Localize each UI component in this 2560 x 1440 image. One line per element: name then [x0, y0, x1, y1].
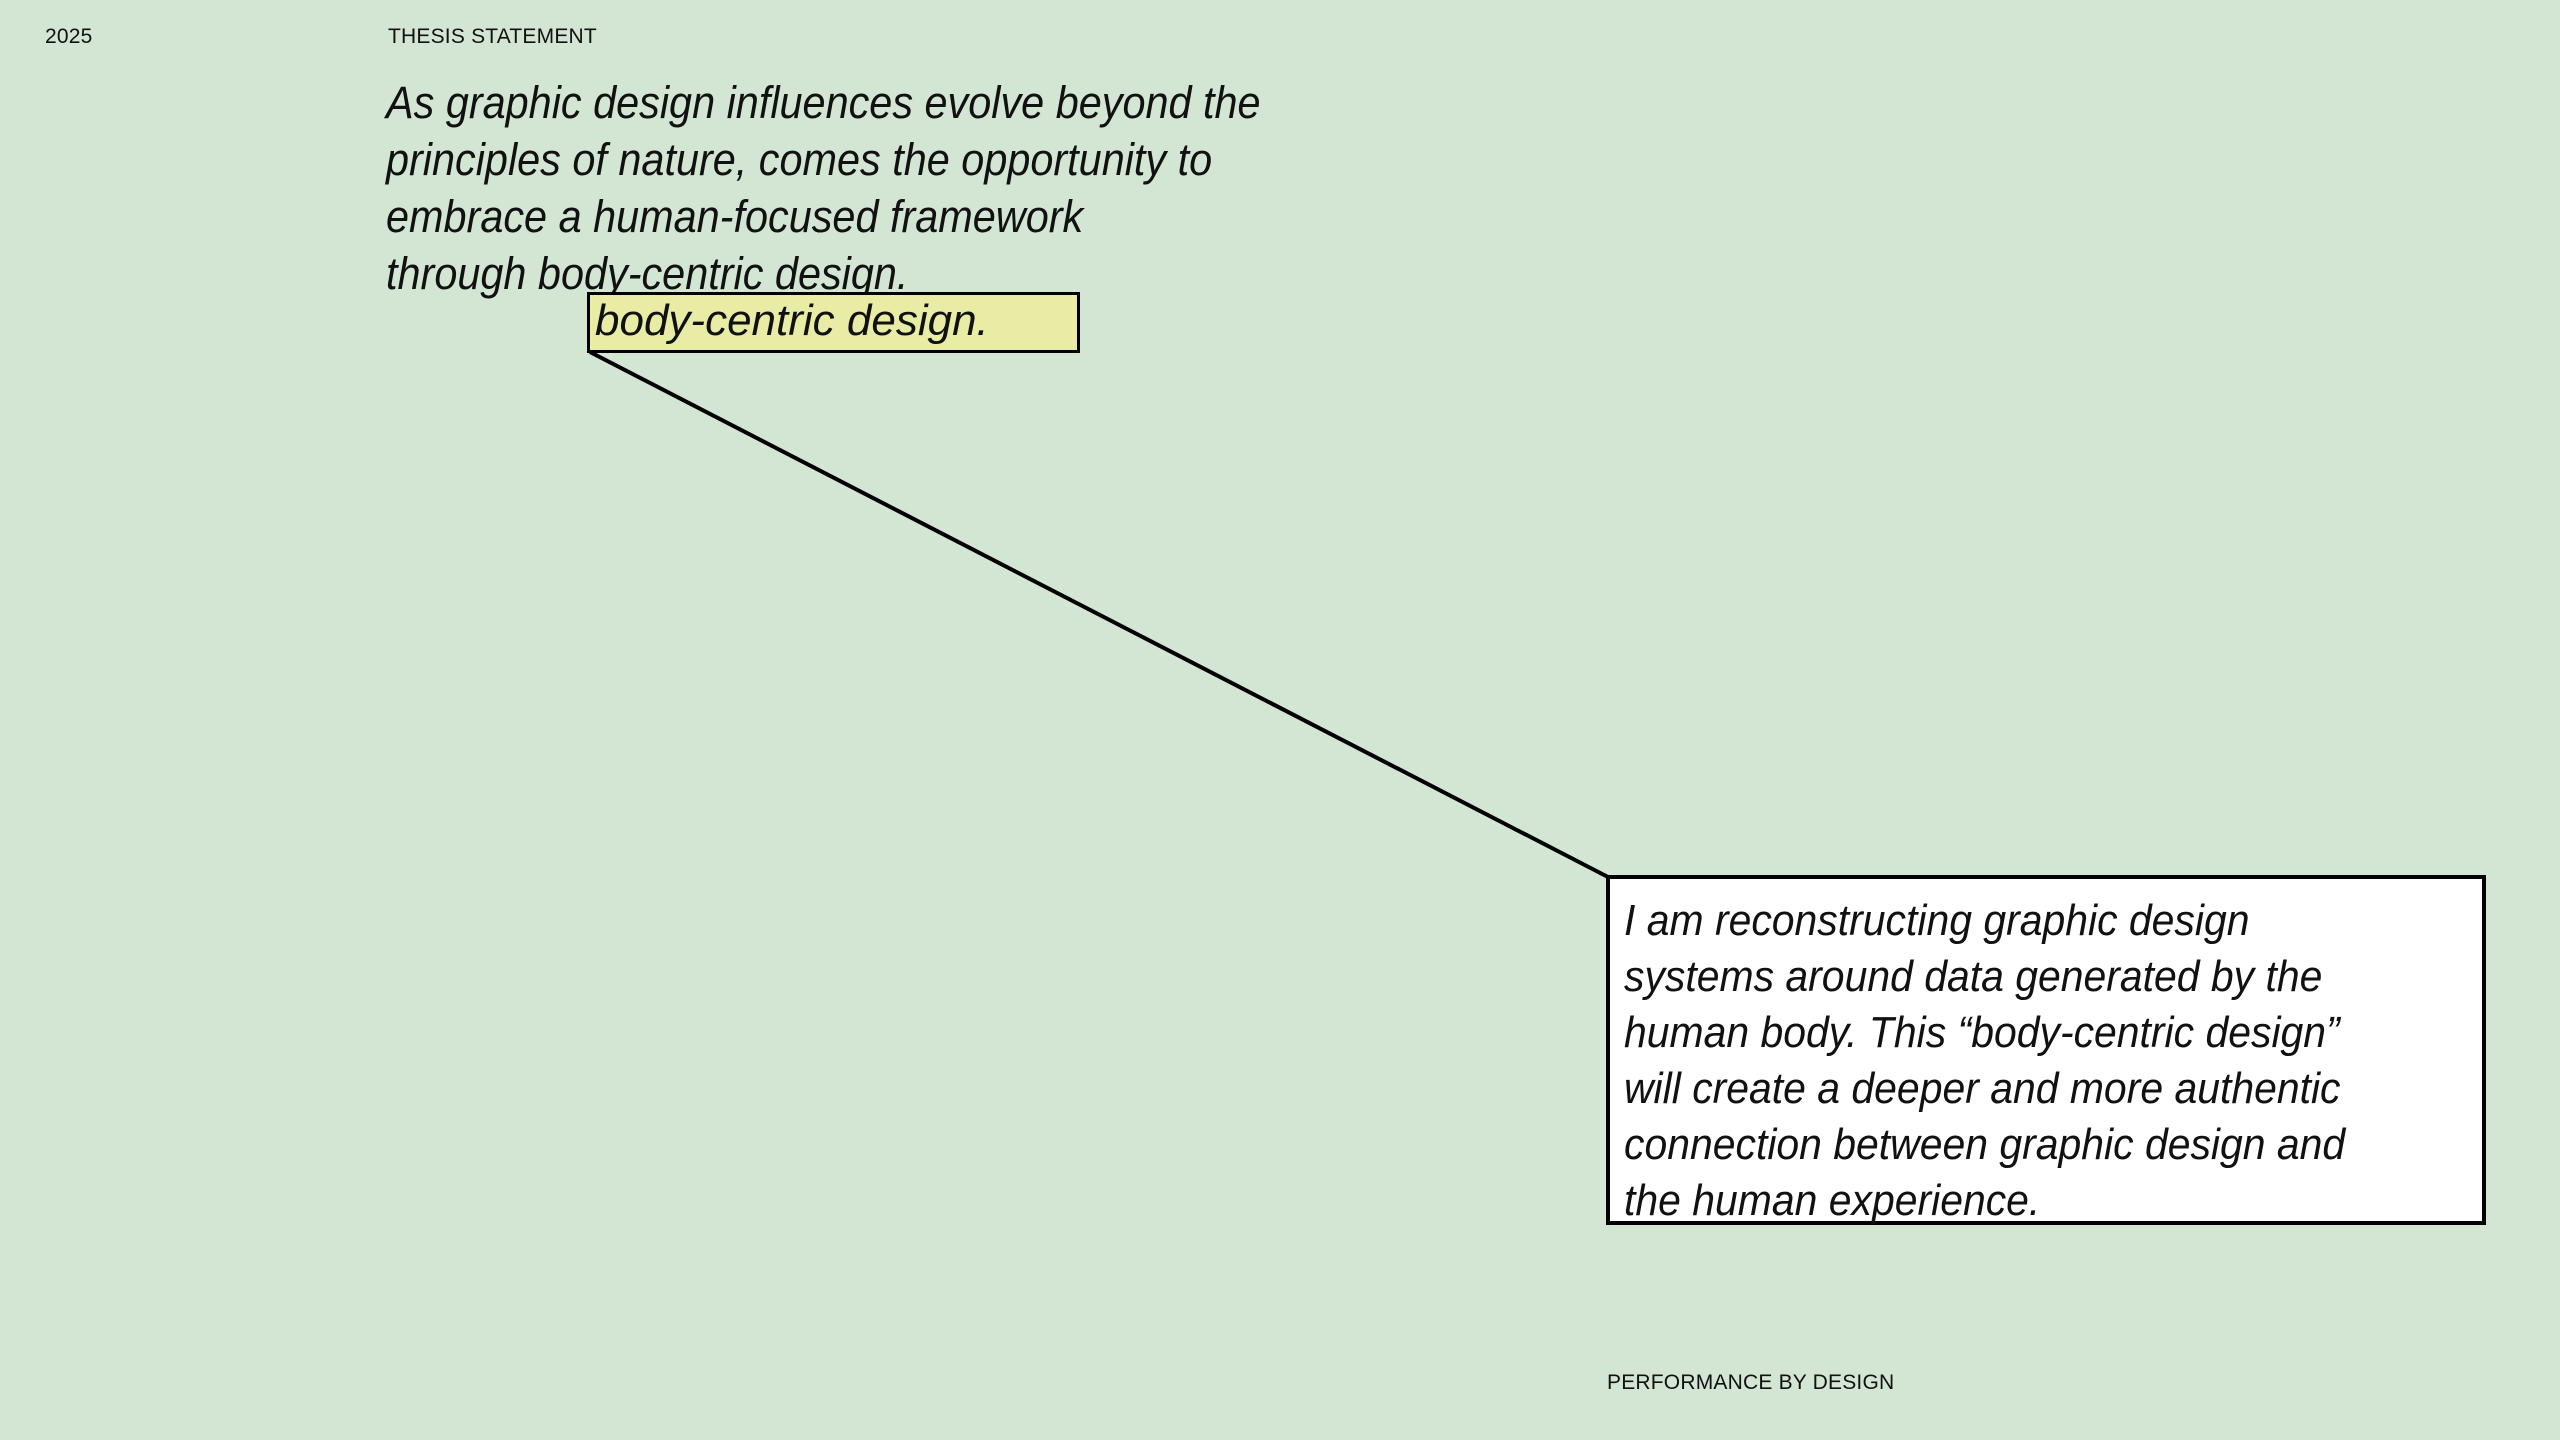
explanation-line: I am reconstructing graphic design — [1624, 893, 2489, 949]
statement-line: embrace a human-focused framework — [386, 188, 1444, 245]
highlight-callout-text: body-centric design. — [590, 299, 989, 343]
statement-line: principles of nature, comes the opportun… — [386, 131, 1444, 188]
explanation-line: the human experience. — [1624, 1173, 2489, 1229]
footer-caption: PERFORMANCE BY DESIGN — [1607, 1372, 1894, 1393]
explanation-box: I am reconstructing graphic design syste… — [1606, 875, 2486, 1225]
statement-line: As graphic design influences evolve beyo… — [386, 74, 1444, 131]
connector-line-segment — [590, 352, 1608, 877]
thesis-statement-paragraph: As graphic design influences evolve beyo… — [386, 74, 1444, 302]
explanation-line: will create a deeper and more authentic — [1624, 1061, 2489, 1117]
header-year: 2025 — [45, 26, 93, 47]
explanation-paragraph: I am reconstructing graphic design syste… — [1624, 893, 2489, 1229]
explanation-line: connection between graphic design and — [1624, 1117, 2489, 1173]
header-title: THESIS STATEMENT — [388, 26, 597, 47]
highlight-callout-box[interactable]: body-centric design. — [587, 292, 1080, 353]
poster-canvas: 2025 THESIS STATEMENT As graphic design … — [0, 0, 2560, 1440]
explanation-line: systems around data generated by the — [1624, 949, 2489, 1005]
explanation-line: human body. This “body-centric design” — [1624, 1005, 2489, 1061]
